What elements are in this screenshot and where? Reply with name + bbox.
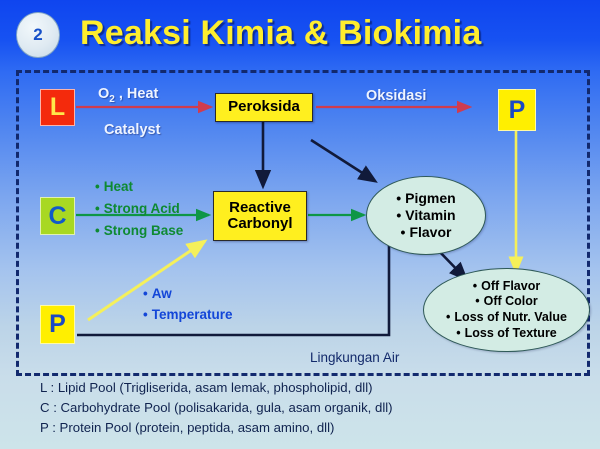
label-lingkungan-air: Lingkungan Air [310, 350, 399, 365]
slide-canvas: 2 Reaksi Kimia & Biokimia [0, 0, 600, 449]
node-peroksida[interactable]: Peroksida [215, 93, 313, 122]
legend: L : Lipid Pool (Trigliserida, asam lemak… [40, 378, 580, 438]
off-quality-item: Loss of Texture [456, 326, 557, 342]
pigmen-item: Vitamin [396, 207, 455, 224]
node-reactive-carbonyl[interactable]: Reactive Carbonyl [213, 191, 307, 241]
off-quality-item: Off Flavor [473, 279, 540, 295]
node-pigmen-vitamin-flavor[interactable]: Pigmen Vitamin Flavor [366, 176, 486, 255]
pool-box-lipid[interactable]: L [40, 89, 75, 126]
label-protein-conditions: Aw Temperature [143, 284, 233, 326]
off-quality-item: Loss of Nutr. Value [446, 310, 567, 326]
legend-line-protein: P : Protein Pool (protein, peptida, asam… [40, 418, 580, 438]
off-quality-item: Off Color [475, 294, 538, 310]
slide-number-badge: 2 [16, 12, 60, 58]
protein-condition-item: Aw [143, 284, 233, 305]
label-oksidasi: Oksidasi [366, 88, 426, 104]
label-catalyst: Catalyst [104, 122, 160, 138]
label-carbohydrate-conditions: Heat Strong Acid Strong Base [95, 176, 183, 242]
carbohydrate-condition-item: Strong Base [95, 220, 183, 242]
carbohydrate-condition-item: Heat [95, 176, 183, 198]
pigmen-item: Flavor [401, 224, 452, 241]
node-off-quality[interactable]: Off Flavor Off Color Loss of Nutr. Value… [423, 268, 590, 352]
protein-condition-item: Temperature [143, 305, 233, 326]
node-reactive-carbonyl-line1: Reactive [227, 200, 292, 216]
pigmen-item: Pigmen [396, 190, 455, 207]
legend-line-lipid: L : Lipid Pool (Trigliserida, asam lemak… [40, 378, 580, 398]
page-title: Reaksi Kimia & Biokimia [80, 6, 590, 60]
carbohydrate-condition-item: Strong Acid [95, 198, 183, 220]
node-reactive-carbonyl-line2: Carbonyl [227, 216, 292, 232]
label-o2-heat: O2 , Heat [98, 86, 158, 105]
legend-line-carbohydrate: C : Carbohydrate Pool (polisakarida, gul… [40, 398, 580, 418]
pool-box-protein-bottom[interactable]: P [40, 305, 75, 344]
pool-box-protein-top[interactable]: P [498, 89, 536, 131]
pool-box-carbohydrate[interactable]: C [40, 197, 75, 235]
slide-header: 2 Reaksi Kimia & Biokimia [0, 0, 600, 66]
